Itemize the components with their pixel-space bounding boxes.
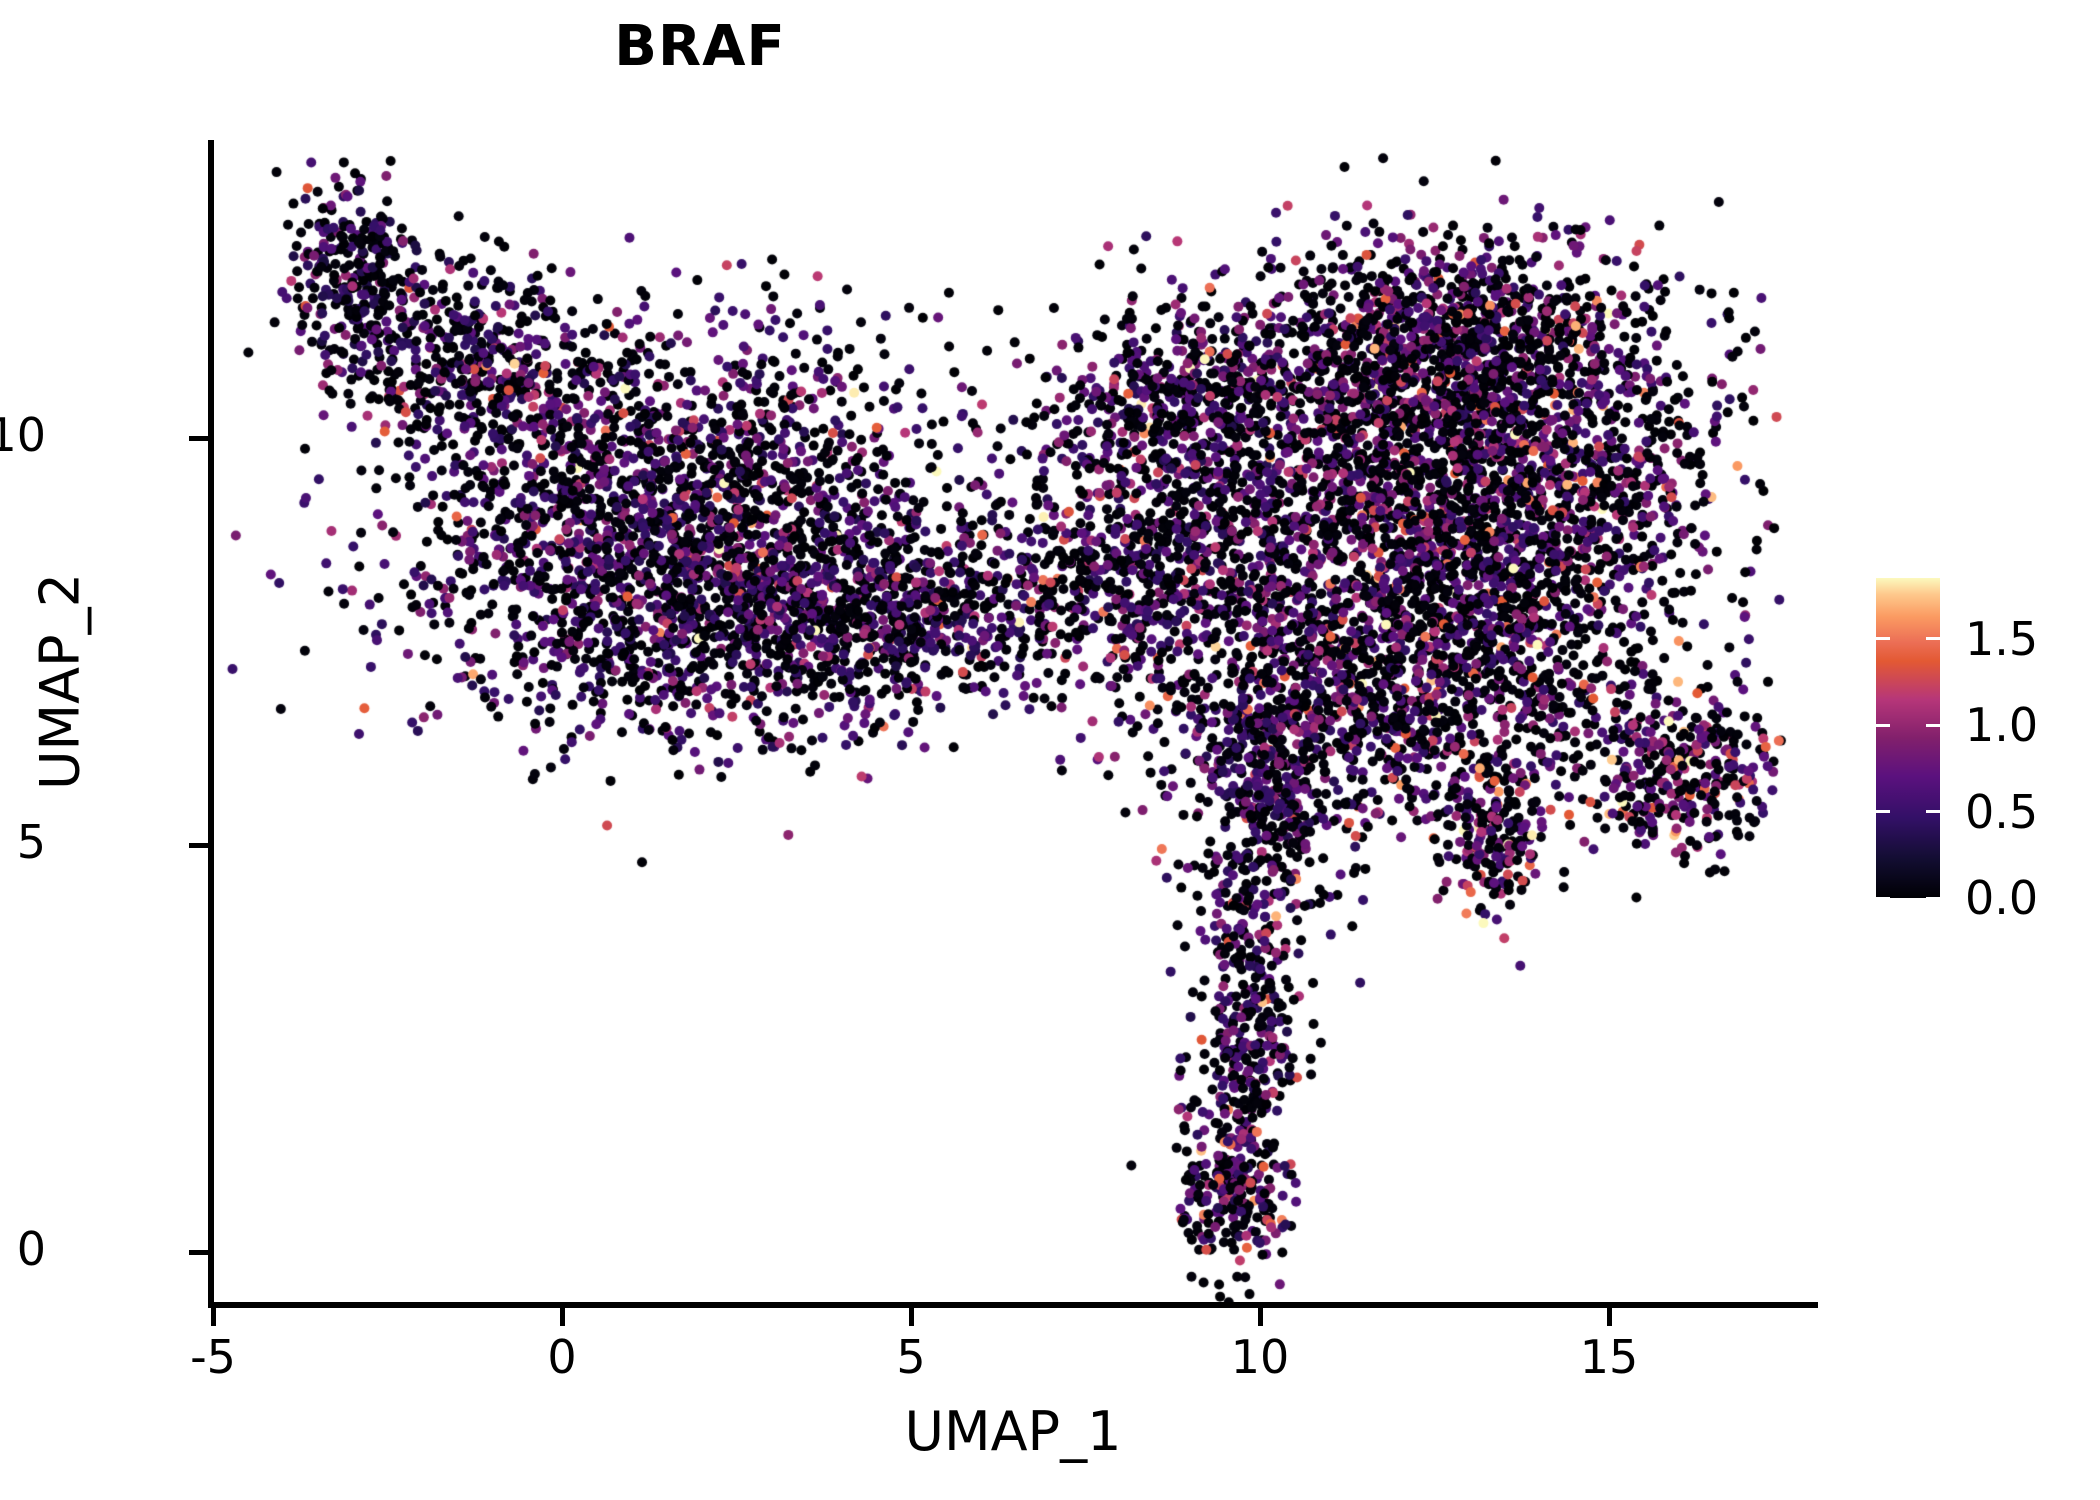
page-title: BRAF <box>0 14 1400 79</box>
x-tick-label-10: 10 <box>1231 1330 1290 1384</box>
colorbar-label-1.5: 1.5 <box>1965 612 2038 666</box>
figure-canvas: BRAF UMAP_1 UMAP_2 0510-50510150.00.51.0… <box>0 0 2100 1500</box>
colorbar-label-0.0: 0.0 <box>1965 871 2038 925</box>
colorbar <box>1876 578 1940 898</box>
x-tick-15 <box>1607 1306 1612 1326</box>
x-tick--5 <box>211 1306 216 1326</box>
colorbar-label-0.5: 0.5 <box>1965 785 2038 839</box>
y-tick-label-5: 5 <box>17 815 46 869</box>
x-tick-label-5: 5 <box>896 1330 925 1384</box>
y-tick-10 <box>189 436 209 441</box>
scatter-plot-area <box>213 140 1813 1305</box>
x-axis-label: UMAP_1 <box>213 1400 1813 1463</box>
x-tick-label-0: 0 <box>547 1330 576 1384</box>
y-axis-spine <box>208 140 214 1308</box>
y-tick-0 <box>189 1250 209 1255</box>
x-tick-10 <box>1258 1306 1263 1326</box>
colorbar-gradient <box>1876 578 1940 898</box>
x-tick-label-15: 15 <box>1580 1330 1639 1384</box>
x-axis-spine <box>208 1302 1818 1308</box>
y-tick-label-10: 10 <box>0 408 46 462</box>
y-tick-label-0: 0 <box>17 1222 46 1276</box>
x-tick-0 <box>560 1306 565 1326</box>
colorbar-label-1.0: 1.0 <box>1965 698 2038 752</box>
umap-scatter-canvas <box>213 140 1813 1305</box>
y-tick-5 <box>189 843 209 848</box>
x-tick-label--5: -5 <box>190 1330 236 1384</box>
x-tick-5 <box>909 1306 914 1326</box>
